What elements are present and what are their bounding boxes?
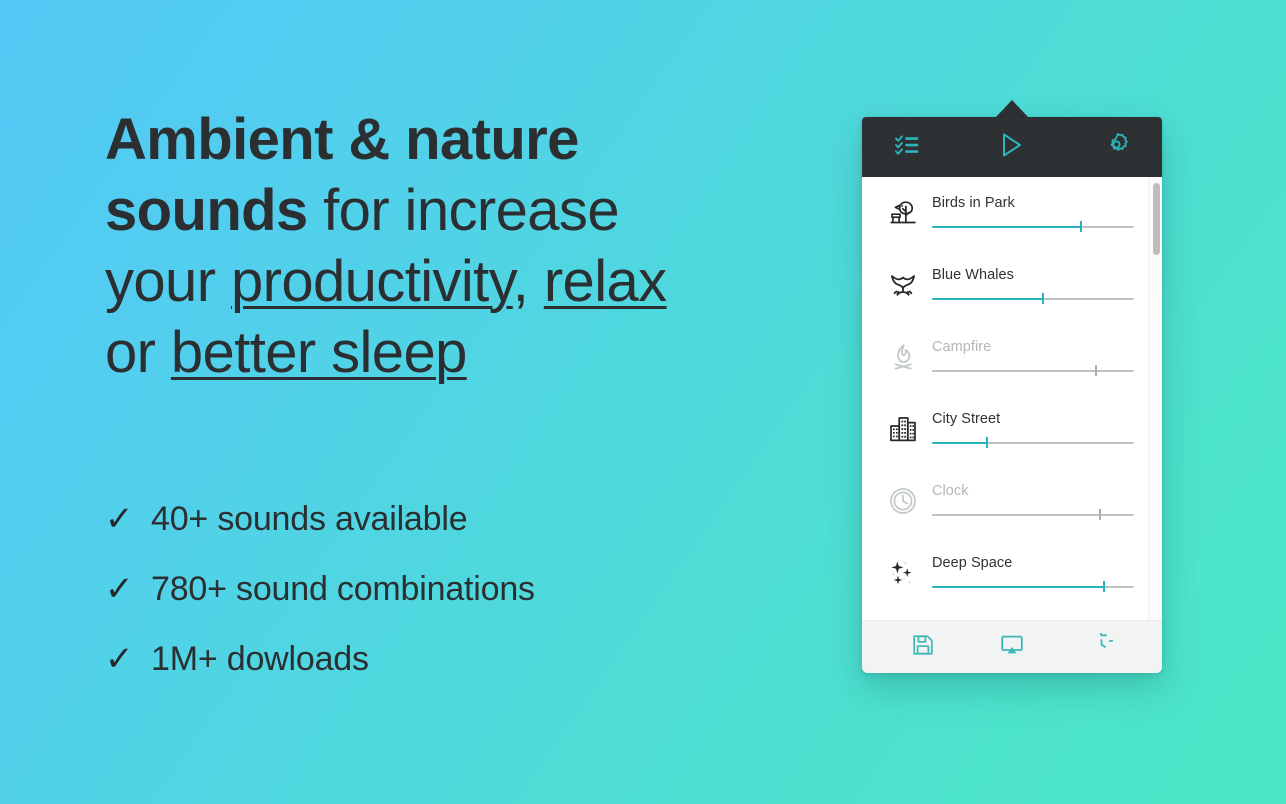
- popover-caret: [996, 100, 1028, 117]
- app-panel: Birds in Park: [862, 117, 1162, 673]
- volume-slider[interactable]: [932, 439, 1134, 447]
- slider-track: [932, 370, 1134, 372]
- cast-icon: [1000, 634, 1024, 661]
- feature-label: 40+ sounds available: [151, 500, 467, 539]
- panel-header: [862, 117, 1162, 177]
- panel-footer: [862, 621, 1162, 673]
- feature-label: 780+ sound combinations: [151, 570, 535, 609]
- sound-label: Birds in Park: [932, 195, 1134, 211]
- slider-track: [932, 514, 1134, 516]
- checklist-icon: [895, 134, 921, 161]
- headline-bold-1: Ambient & nature: [105, 107, 579, 172]
- check-icon: ✓: [105, 502, 151, 536]
- check-icon: ✓: [105, 642, 151, 676]
- sound-row-birds-in-park[interactable]: Birds in Park: [862, 177, 1162, 249]
- slider-thumb[interactable]: [1042, 293, 1044, 304]
- check-icon: ✓: [105, 572, 151, 606]
- slider-thumb[interactable]: [1103, 581, 1105, 592]
- headline-link-better-sleep: better sleep: [171, 320, 467, 385]
- headline-bold-2: sounds: [105, 178, 308, 243]
- volume-slider[interactable]: [932, 223, 1134, 231]
- sound-list[interactable]: Birds in Park: [862, 177, 1162, 621]
- headline-link-relax: relax: [544, 249, 667, 314]
- timer-icon: [1090, 633, 1113, 661]
- slider-fill: [932, 442, 987, 444]
- presets-button[interactable]: [886, 125, 930, 169]
- app-panel-wrapper: Birds in Park: [862, 100, 1162, 673]
- slider-fill: [932, 226, 1081, 228]
- sound-row-campfire[interactable]: Campfire: [862, 321, 1162, 393]
- settings-button[interactable]: [1094, 125, 1138, 169]
- cast-button[interactable]: [990, 627, 1034, 667]
- sound-controls: Campfire: [926, 339, 1140, 375]
- slider-fill: [932, 586, 1104, 588]
- feature-list: ✓ 40+ sounds available ✓ 780+ sound comb…: [105, 484, 535, 694]
- sound-row-deep-space[interactable]: Deep Space: [862, 537, 1162, 609]
- save-preset-button[interactable]: [901, 627, 945, 667]
- headline-link-productivity: productivity: [231, 249, 513, 314]
- headline-text-1: for increase: [308, 178, 619, 243]
- slider-fill: [932, 298, 1043, 300]
- sound-controls: City Street: [926, 411, 1140, 447]
- sound-controls: Deep Space: [926, 555, 1140, 591]
- sound-label: Blue Whales: [932, 267, 1134, 283]
- sound-controls: Birds in Park: [926, 195, 1140, 231]
- volume-slider[interactable]: [932, 583, 1134, 591]
- buildings-icon[interactable]: [880, 415, 926, 443]
- slider-thumb[interactable]: [1099, 509, 1101, 520]
- feature-label: 1M+ dowloads: [151, 640, 369, 679]
- page-headline: Ambient & nature sounds for increase you…: [105, 104, 805, 388]
- sound-label: Deep Space: [932, 555, 1134, 571]
- sound-row-blue-whales[interactable]: Blue Whales: [862, 249, 1162, 321]
- clock-icon[interactable]: [880, 486, 926, 516]
- tree-bench-icon[interactable]: [880, 198, 926, 228]
- headline-text-2: your: [105, 249, 231, 314]
- save-icon: [912, 634, 934, 661]
- slider-thumb[interactable]: [1080, 221, 1082, 232]
- gear-icon: [1104, 132, 1129, 162]
- sound-controls: Clock: [926, 483, 1140, 519]
- list-item: ✓ 40+ sounds available: [105, 484, 535, 554]
- sound-row-city-street[interactable]: City Street: [862, 393, 1162, 465]
- scrollbar-thumb[interactable]: [1153, 183, 1160, 255]
- headline-text-3: ,: [513, 249, 544, 314]
- sound-controls: Blue Whales: [926, 267, 1140, 303]
- play-icon: [1000, 132, 1024, 163]
- marketing-copy: Ambient & nature sounds for increase you…: [105, 104, 805, 388]
- list-item: ✓ 780+ sound combinations: [105, 554, 535, 624]
- sound-label: Campfire: [932, 339, 1134, 355]
- volume-slider[interactable]: [932, 367, 1134, 375]
- sound-label: Clock: [932, 483, 1134, 499]
- sound-label: City Street: [932, 411, 1134, 427]
- list-item: ✓ 1M+ dowloads: [105, 624, 535, 694]
- timer-button[interactable]: [1079, 627, 1123, 667]
- slider-thumb[interactable]: [986, 437, 988, 448]
- scrollbar-track[interactable]: [1148, 177, 1162, 620]
- play-button[interactable]: [990, 125, 1034, 169]
- campfire-icon[interactable]: [880, 342, 926, 372]
- headline-text-4: or: [105, 320, 171, 385]
- volume-slider[interactable]: [932, 511, 1134, 519]
- whale-tail-icon[interactable]: [880, 271, 926, 299]
- slider-thumb[interactable]: [1095, 365, 1097, 376]
- sparkles-icon[interactable]: [880, 558, 926, 588]
- volume-slider[interactable]: [932, 295, 1134, 303]
- sound-row-clock[interactable]: Clock: [862, 465, 1162, 537]
